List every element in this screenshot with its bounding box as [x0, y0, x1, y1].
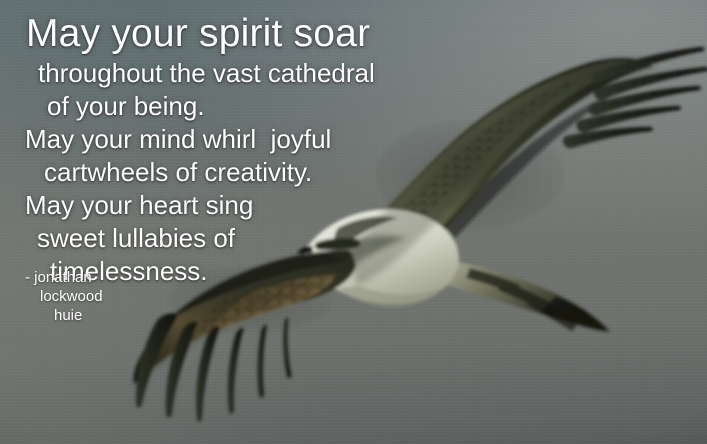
attribution-block: - jonathan lockwood huie	[0, 268, 103, 325]
quote-line-4: cartwheels of creativity.	[44, 159, 470, 185]
attribution-line-3: huie	[54, 306, 103, 325]
attribution-line-1: - jonathan	[25, 268, 103, 287]
quote-line-5: May your heart sing	[25, 192, 470, 218]
inspirational-quote-poster: May your spirit soar throughout the vast…	[0, 0, 707, 444]
quote-line-6: sweet lullabies of	[37, 225, 470, 251]
quote-line-3: May your mind whirl joyful	[25, 126, 470, 152]
quote-line-7: timelessness.	[50, 258, 470, 284]
quote-line-1: throughout the vast cathedral	[38, 60, 470, 86]
quote-line-2: of your being.	[47, 93, 470, 119]
quote-text-block: May your spirit soar throughout the vast…	[0, 0, 470, 284]
quote-headline: May your spirit soar	[26, 14, 470, 53]
attribution-line-2: lockwood	[40, 287, 103, 306]
